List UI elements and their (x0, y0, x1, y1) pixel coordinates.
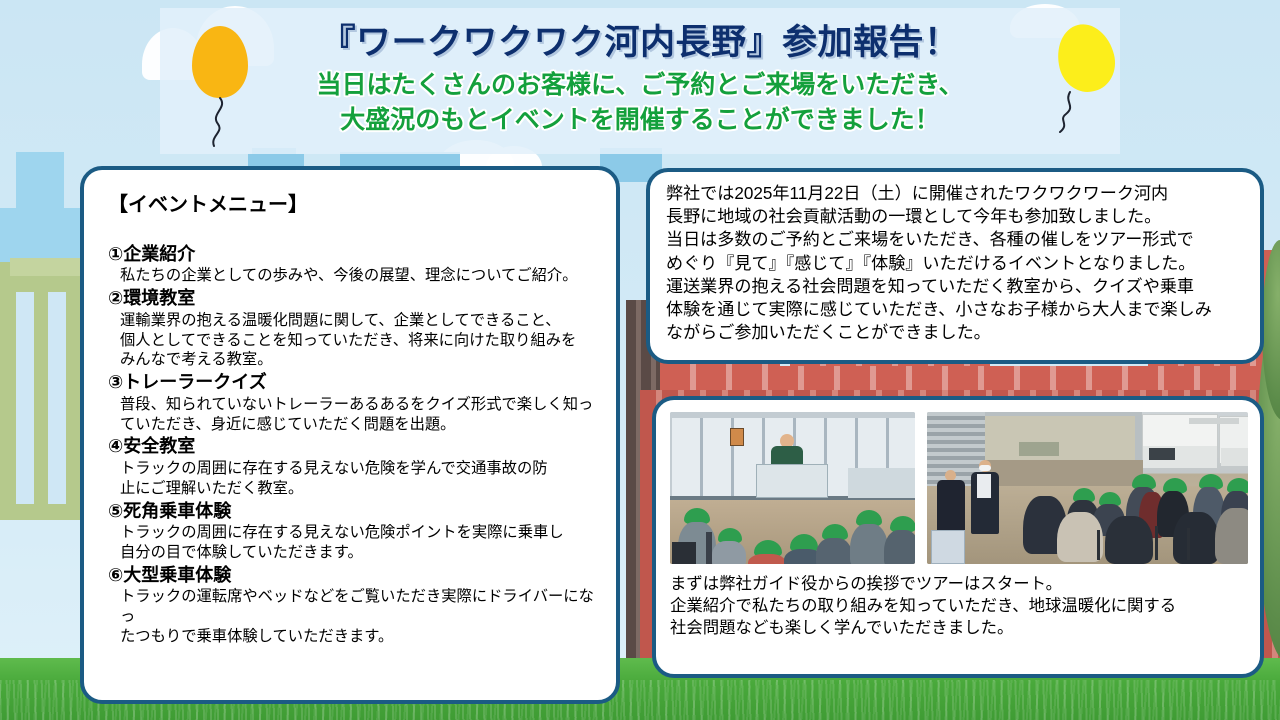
intro-paragraph: 弊社では2025年11月22日（土）に開催されたワクワクワーク河内 長野に地域の… (666, 182, 1246, 345)
menu-item-desc: トラックの周囲に存在する見えない危険を学んで交通事故の防 止にご理解いただく教室… (108, 459, 596, 499)
menu-item-desc: トラックの周囲に存在する見えない危険ポイントを実際に乗車し 自分の目で体験してい… (108, 523, 596, 563)
building-window (48, 292, 66, 504)
menu-item-title: ⑥大型乗車体験 (108, 564, 596, 587)
menu-item-desc: 運輸業界の抱える温暖化問題に関して、企業としてできること、 個人としてできること… (108, 311, 596, 371)
menu-item: ⑤死角乗車体験 トラックの周囲に存在する見えない危険ポイントを実際に乗車し 自分… (108, 500, 596, 563)
menu-item: ①企業紹介 私たちの企業としての歩みや、今後の展望、理念についてご紹介。 (108, 243, 596, 286)
menu-item: ③トレーラークイズ 普段、知られていないトレーラーあるあるをクイズ形式で楽しく知… (108, 371, 596, 434)
menu-item-desc: 私たちの企業としての歩みや、今後の展望、理念についてご紹介。 (108, 266, 596, 286)
menu-item-title: ①企業紹介 (108, 243, 596, 266)
intro-text-panel: 弊社では2025年11月22日（土）に開催されたワクワクワーク河内 長野に地域の… (646, 168, 1264, 364)
event-menu-panel: 【イベントメニュー】 ①企業紹介 私たちの企業としての歩みや、今後の展望、理念に… (80, 166, 620, 704)
menu-item: ④安全教室 トラックの周囲に存在する見えない危険を学んで交通事故の防 止にご理解… (108, 435, 596, 498)
page-title: 『ワークワクワク河内長野』参加報告！ (160, 22, 1120, 63)
photo-row (670, 412, 1248, 564)
poster-root: 『ワークワクワク河内長野』参加報告！ 当日はたくさんのお客様に、ご予約とご来場を… (0, 0, 1280, 720)
title-banner: 『ワークワクワク河内長野』参加報告！ 当日はたくさんのお客様に、ご予約とご来場を… (160, 8, 1120, 154)
balloon-string-icon (192, 98, 232, 148)
photo-guide-greeting (927, 412, 1248, 564)
menu-item: ②環境教室 運輸業界の抱える温暖化問題に関して、企業としてできること、 個人とし… (108, 287, 596, 370)
building-window (16, 292, 34, 504)
photo-caption: まずは弊社ガイド役からの挨拶でツアーはスタート。 企業紹介で私たちの取り組みを知… (670, 574, 1248, 640)
balloon-string-icon (1058, 92, 1114, 152)
photo-panel: まずは弊社ガイド役からの挨拶でツアーはスタート。 企業紹介で私たちの取り組みを知… (652, 396, 1264, 678)
menu-item-desc: トラックの運転席やベッドなどをご覧いただき実際にドライバーになっ たつもりで乗車… (108, 587, 596, 647)
photo-classroom-trailer (670, 412, 915, 564)
menu-item: ⑥大型乗車体験 トラックの運転席やベッドなどをご覧いただき実際にドライバーになっ… (108, 564, 596, 647)
menu-item-title: ②環境教室 (108, 287, 596, 310)
event-menu-heading: 【イベントメニュー】 (108, 188, 596, 217)
page-subtitle-line-2: 大盛況のもとイベントを開催することができました！ (160, 104, 1120, 137)
menu-item-title: ⑤死角乗車体験 (108, 500, 596, 523)
menu-item-title: ④安全教室 (108, 435, 596, 458)
balloon-yellow-icon (1058, 24, 1114, 92)
menu-item-title: ③トレーラークイズ (108, 371, 596, 394)
page-subtitle-line-1: 当日はたくさんのお客様に、ご予約とご来場をいただき、 (160, 69, 1120, 102)
building-brick-red (660, 366, 1280, 390)
balloon-orange-icon (192, 26, 248, 98)
menu-item-desc: 普段、知られていないトレーラーあるあるをクイズ形式で楽しく知っ ていただき、身近… (108, 395, 596, 435)
